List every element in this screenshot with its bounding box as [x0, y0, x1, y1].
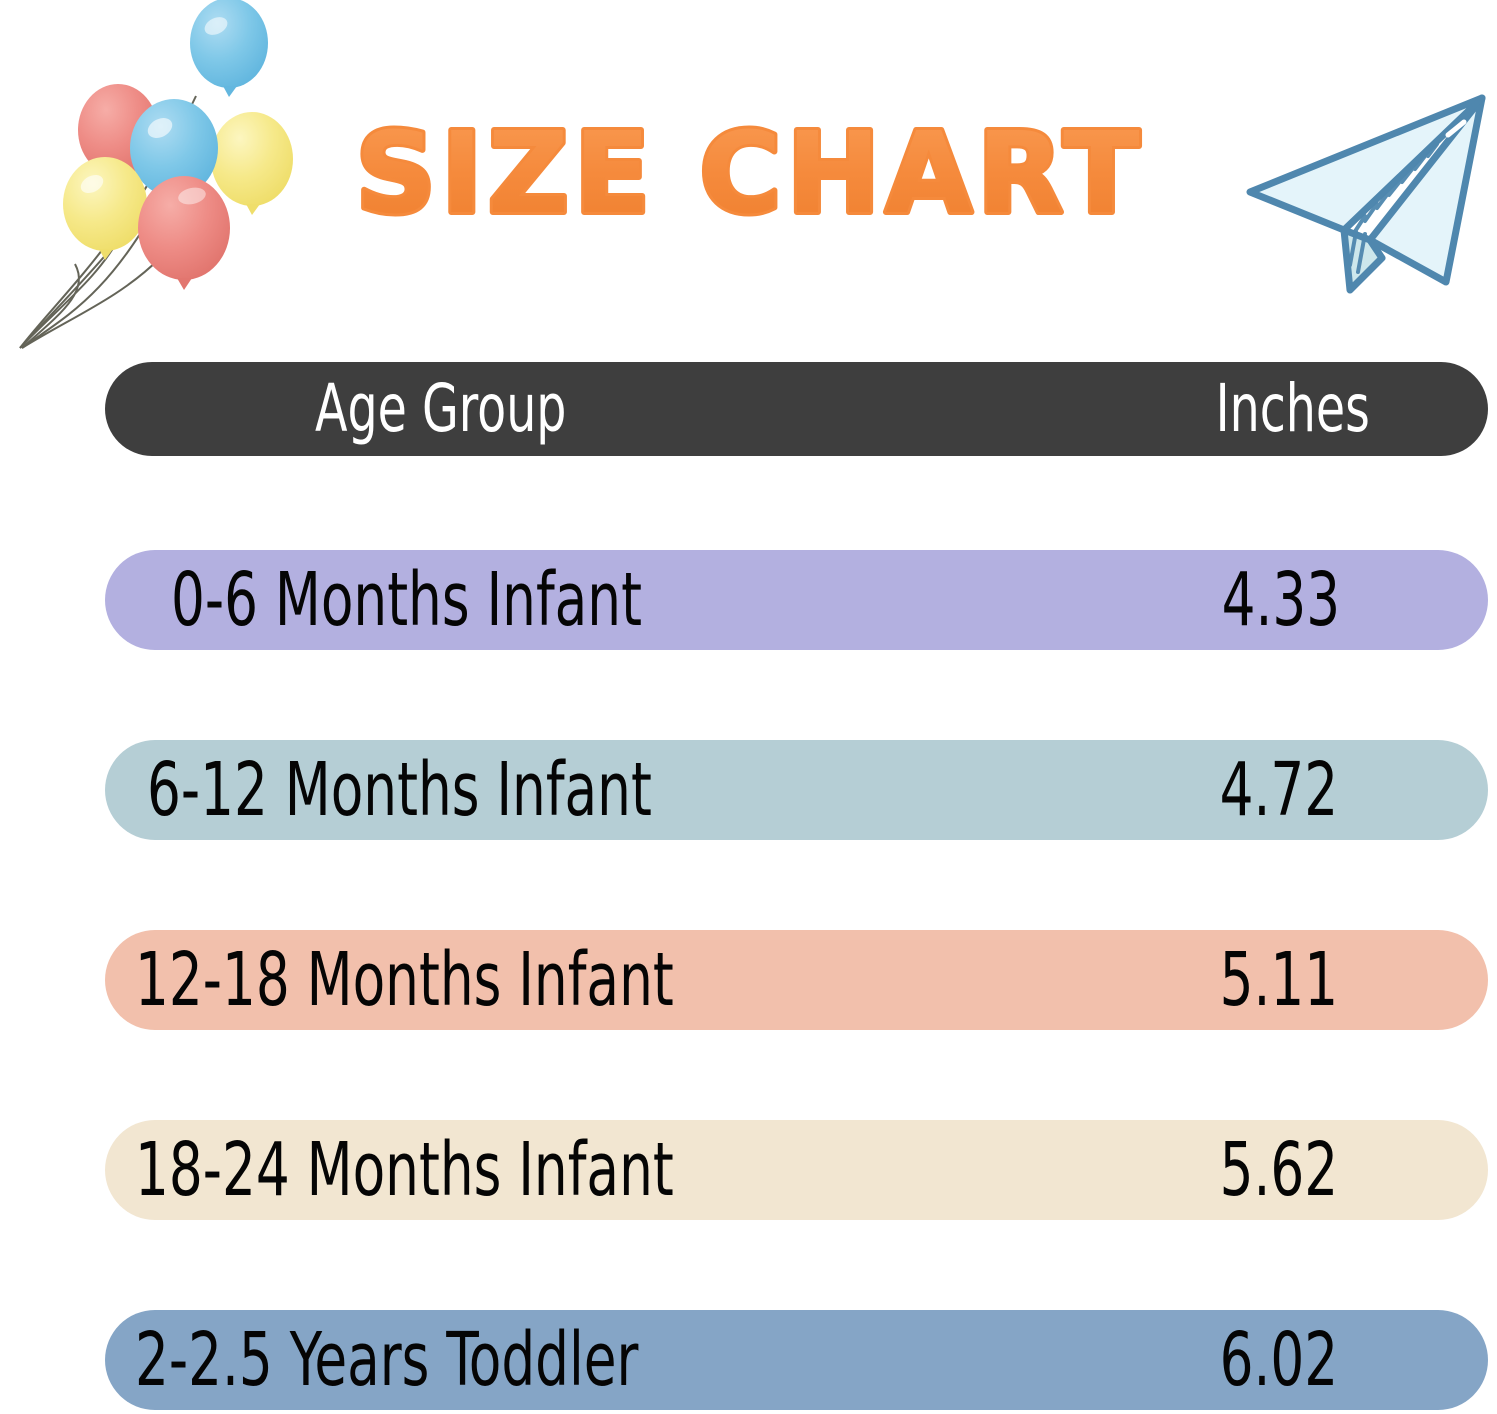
table-row[interactable]: 6-12 Months Infant 4.72 [105, 740, 1488, 840]
balloon-bunch-icon [0, 0, 360, 356]
row-age-group: 18-24 Months Infant [135, 1130, 674, 1210]
paper-airplane-icon [1232, 82, 1497, 312]
row-inches: 4.33 [1221, 560, 1340, 640]
row-inches: 6.02 [1219, 1320, 1338, 1400]
row-age-group: 2-2.5 Years Toddler [135, 1320, 638, 1400]
table-row[interactable]: 2-2.5 Years Toddler 6.02 [105, 1310, 1488, 1410]
size-chart-page: SIZE CHART Ag [0, 0, 1497, 1414]
column-header-inches: Inches [1216, 373, 1370, 445]
row-inches: 4.72 [1219, 750, 1338, 830]
page-title: SIZE CHART [330, 112, 1170, 242]
column-header-age-group: Age Group [315, 373, 566, 445]
row-age-group: 0-6 Months Infant [171, 560, 642, 640]
size-chart-table: Age Group Inches 0-6 Months Infant 4.33 … [105, 362, 1488, 1414]
table-header-row: Age Group Inches [105, 362, 1488, 456]
table-row[interactable]: 18-24 Months Infant 5.62 [105, 1120, 1488, 1220]
table-row[interactable]: 12-18 Months Infant 5.11 [105, 930, 1488, 1030]
row-inches: 5.62 [1219, 1130, 1338, 1210]
table-row[interactable]: 0-6 Months Infant 4.33 [105, 550, 1488, 650]
row-age-group: 6-12 Months Infant [147, 750, 652, 830]
title-text: SIZE CHART [355, 109, 1144, 239]
row-age-group: 12-18 Months Infant [135, 940, 674, 1020]
row-inches: 5.11 [1219, 940, 1338, 1020]
